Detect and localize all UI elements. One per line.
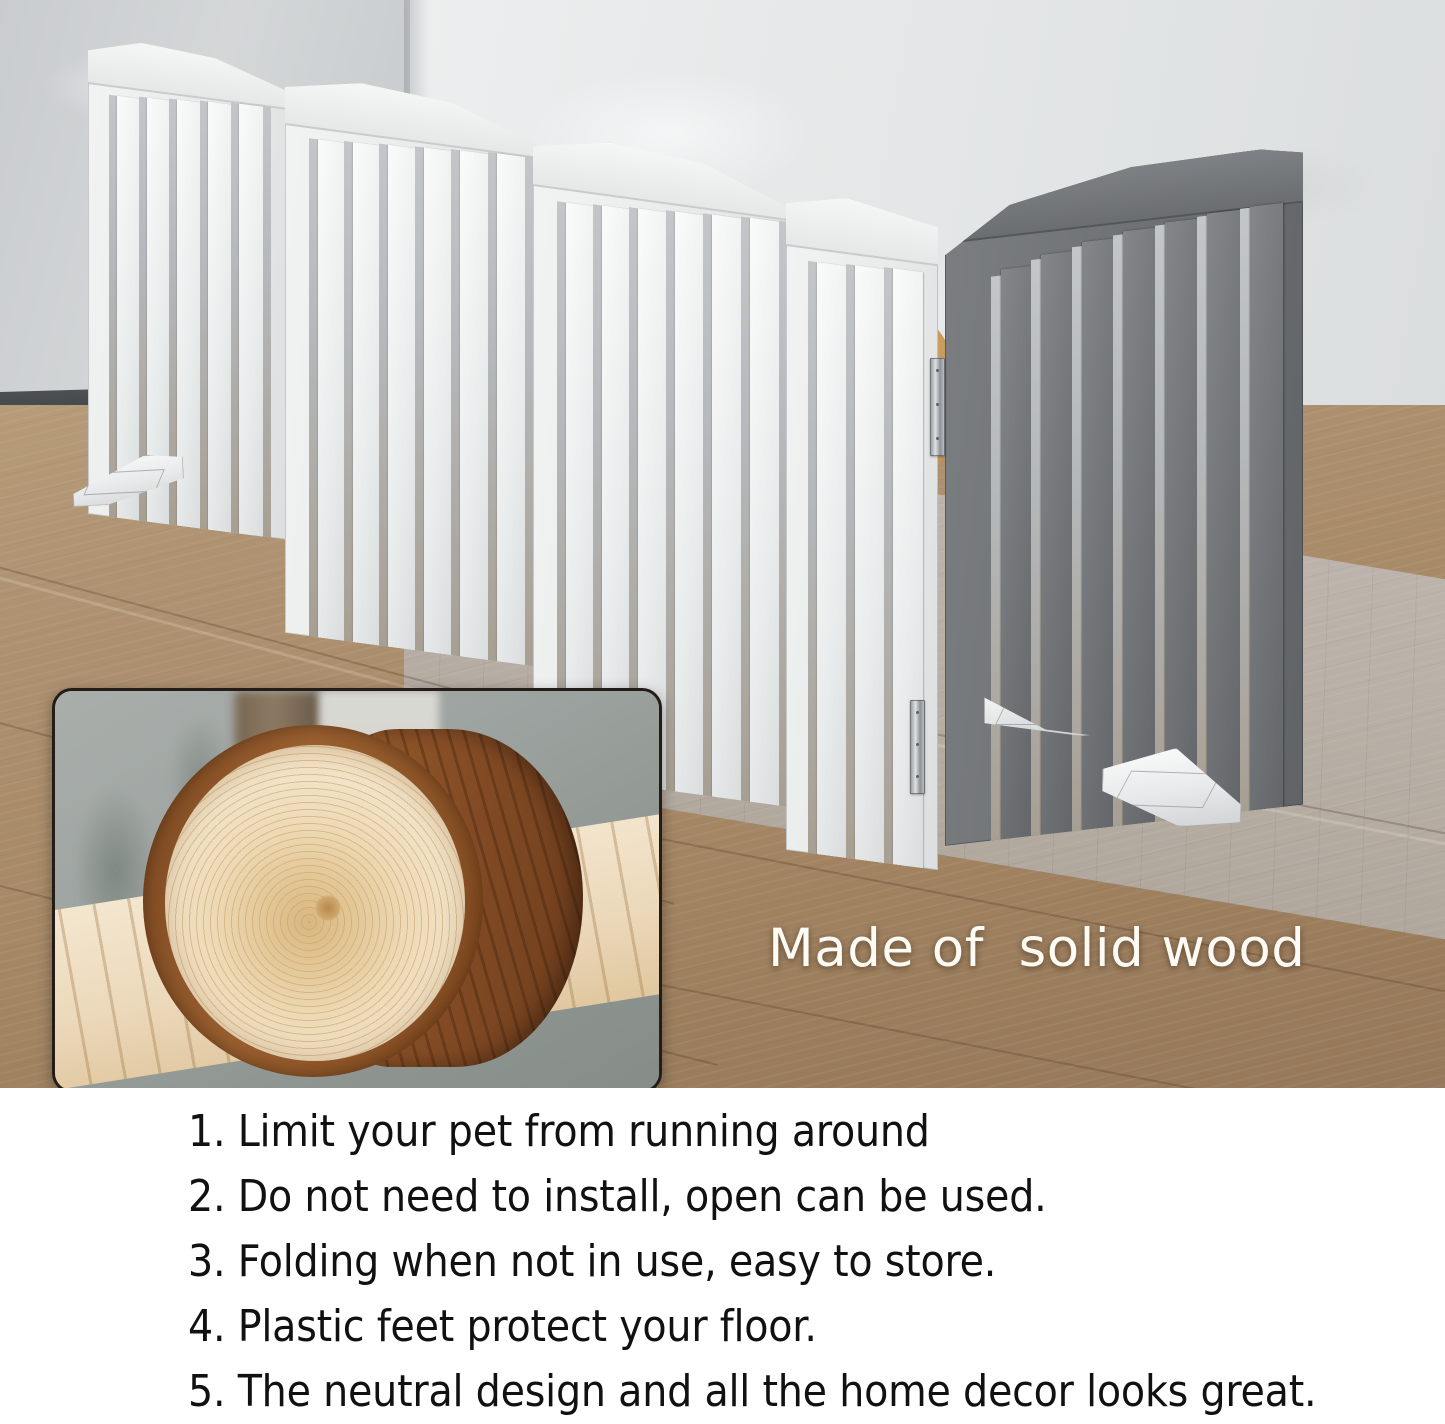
gate-slat bbox=[1123, 228, 1155, 826]
slat-gap bbox=[666, 210, 675, 791]
slat-gap bbox=[741, 216, 750, 801]
slat-gap bbox=[525, 156, 534, 666]
log-cross-section bbox=[143, 725, 583, 1077]
gate-slat bbox=[353, 142, 379, 645]
gate-slat bbox=[675, 211, 703, 795]
overlay-headline: Made of solid wood bbox=[768, 918, 1305, 979]
slat-gap bbox=[846, 264, 855, 859]
product-image: Made of solid wood 1. Limit your pet fro… bbox=[0, 0, 1445, 1424]
gate-slat bbox=[117, 96, 139, 521]
gate-slat bbox=[424, 148, 451, 656]
slat-gap bbox=[703, 213, 712, 796]
gate-slat bbox=[208, 102, 231, 533]
gate-slat bbox=[712, 215, 741, 801]
feature-item-2: 2. Do not need to install, open can be u… bbox=[188, 1171, 1047, 1222]
feature-item-4: 4. Plastic feet protect your floor. bbox=[188, 1301, 817, 1352]
gate-slat bbox=[1082, 239, 1113, 831]
log-pith-center bbox=[315, 895, 341, 921]
main-product-photo: Made of solid wood bbox=[0, 0, 1445, 1088]
gate-slat bbox=[388, 145, 415, 651]
feature-item-5: 5. The neutral design and all the home d… bbox=[188, 1366, 1316, 1417]
slat-gap bbox=[991, 276, 1001, 841]
gate-slat bbox=[1250, 203, 1283, 811]
gate-slat bbox=[1165, 219, 1197, 821]
slat-gap bbox=[415, 146, 424, 651]
slat-gap bbox=[884, 267, 893, 864]
slat-gap bbox=[1113, 234, 1123, 826]
slat-gap bbox=[1197, 216, 1207, 817]
gate-slat bbox=[817, 262, 846, 858]
slat-gap bbox=[379, 144, 388, 647]
feature-item-3: 3. Folding when not in use, easy to stor… bbox=[188, 1236, 996, 1287]
slat-gap bbox=[231, 103, 239, 534]
slat-gap bbox=[344, 141, 353, 642]
gate-slat bbox=[1207, 210, 1240, 816]
gate-panel-5-gray bbox=[945, 145, 1303, 846]
gate-slat bbox=[497, 153, 525, 665]
gate-slat bbox=[1041, 251, 1072, 835]
slat-gap bbox=[263, 106, 271, 538]
slat-gap bbox=[309, 138, 318, 637]
slat-gap bbox=[1072, 246, 1082, 831]
gate-slat bbox=[318, 139, 344, 640]
slat-gap bbox=[451, 149, 460, 656]
gate-slat bbox=[750, 218, 779, 806]
slat-gap bbox=[1240, 208, 1250, 812]
feature-item-1: 1. Limit your pet from running around bbox=[188, 1106, 930, 1157]
slat-gap bbox=[1155, 225, 1165, 822]
gate-slat bbox=[239, 104, 263, 537]
slat-gap bbox=[1031, 259, 1041, 836]
slat-gap bbox=[488, 152, 497, 661]
feature-list: 1. Limit your pet from running around 2.… bbox=[0, 1088, 1445, 1424]
gate-panel-2 bbox=[285, 73, 540, 667]
gate-panel-1 bbox=[88, 36, 293, 541]
slat-gap bbox=[808, 261, 817, 854]
slat-gap bbox=[200, 101, 208, 530]
gate-slat bbox=[460, 150, 488, 660]
gate-slat bbox=[855, 265, 884, 863]
gate-slat bbox=[1001, 266, 1031, 839]
gate-hinge-lower bbox=[910, 700, 925, 794]
gate-hinge-upper bbox=[930, 358, 945, 456]
slat-gap bbox=[109, 95, 117, 518]
inset-photo-solid-wood bbox=[52, 688, 662, 1088]
